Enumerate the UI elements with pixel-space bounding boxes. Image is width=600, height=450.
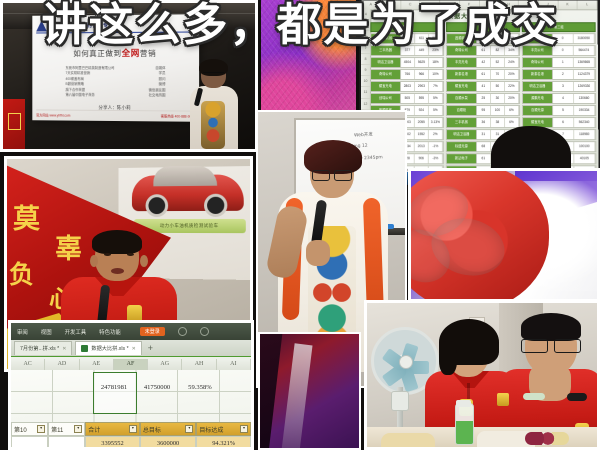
- cell-name: 百顺水泵: [447, 94, 477, 103]
- header-label: 合计: [88, 425, 100, 434]
- row-cell-total[interactable]: 3395552: [85, 436, 140, 447]
- table-row: 三丰机械36386%: [446, 117, 520, 128]
- cell-name: 耀宝光电: [447, 82, 477, 91]
- red-flag: [3, 99, 25, 149]
- car-wheel: [204, 194, 227, 217]
- cell-value: 38: [491, 118, 505, 127]
- cell-value: 25: [477, 94, 491, 103]
- cell-name: 三丰机械: [447, 118, 477, 127]
- whiteboard-note: Web开发: [354, 132, 373, 139]
- cell-value: 41: [477, 82, 491, 91]
- header-col-10[interactable]: 第10 ▾: [11, 422, 48, 436]
- table-row: 耀宝光电415022%: [446, 81, 520, 92]
- spreadsheet-title: 数据大比拼: [447, 11, 482, 20]
- new-tab-button[interactable]: +: [145, 343, 156, 353]
- bullet-right: 社交电商圈: [149, 95, 166, 98]
- table-row: 百顺柜951006%: [446, 105, 520, 116]
- cell-name: 三丰机械: [523, 34, 553, 43]
- cell-value: 50: [491, 82, 505, 91]
- slide-brand-text: 银隆营销你身边的营销专家: [50, 22, 114, 29]
- col-header: E: [440, 0, 460, 9]
- cell-value: 18%: [429, 58, 443, 67]
- wristwatch-icon: [567, 393, 587, 401]
- row-cell[interactable]: [48, 436, 85, 447]
- close-icon[interactable]: ✕: [132, 346, 136, 352]
- cell-value: 7%: [429, 82, 443, 91]
- table-row: 奇特公司76696610%: [370, 69, 444, 80]
- cell-value: 118980: [574, 130, 595, 139]
- red-car-image: [132, 174, 244, 211]
- table-row: 丰亮公司0564474: [522, 45, 596, 56]
- cell-value: 2903: [415, 82, 429, 91]
- cell-value: 17: [477, 34, 491, 43]
- row-header: 10: [361, 76, 370, 87]
- bullet-left: 400覆盖布局: [65, 78, 83, 81]
- cell-value: 5625: [415, 58, 429, 67]
- cell-name: 丰亮公司: [523, 46, 553, 55]
- person-shirt-pattern: [201, 101, 225, 149]
- cell-value: 22%: [505, 82, 519, 91]
- header-achievement[interactable]: 目标达成 ▾: [196, 422, 251, 436]
- cell-value: 2013: [415, 142, 429, 151]
- row-cell-target[interactable]: 3600000: [140, 436, 197, 447]
- column-header-ag[interactable]: AG: [148, 359, 182, 370]
- bullet-left: 旗下合作商盟: [65, 89, 84, 92]
- cell-value: 611: [415, 34, 429, 43]
- cell-name: 奇特公司: [447, 46, 477, 55]
- settings-icon[interactable]: [200, 327, 209, 336]
- table-row: 明洁卫浴器4504562518%: [370, 57, 444, 68]
- cell-value: 611: [401, 34, 415, 43]
- document-tab-1[interactable]: 7月份第...拼.xls * ✕: [14, 341, 72, 355]
- cell-value: 82: [491, 46, 505, 55]
- cell-value: 95: [477, 106, 491, 115]
- row-header: 8: [361, 54, 370, 65]
- cell-value: 2803: [401, 82, 415, 91]
- person-glasses: [203, 72, 224, 78]
- cell-value: 52: [491, 58, 505, 67]
- col-header: H: [499, 0, 519, 9]
- cell-name: 耀宝光电: [371, 82, 401, 91]
- slide-bullet-list: 东莞市阿里巴巴精英制造有限公司 自媒体 7天实现精准营销 学员 400覆盖布局 …: [65, 67, 165, 98]
- cell-value: 10%: [429, 70, 443, 79]
- close-icon[interactable]: ✕: [62, 346, 66, 352]
- cell-value: -1%: [429, 142, 443, 151]
- block-header: 第三组: [522, 22, 596, 32]
- login-status-button[interactable]: 未登录: [140, 327, 165, 337]
- bullet-left: B超营销策略: [65, 83, 83, 86]
- cell-value: 23%: [429, 46, 443, 55]
- woman-hair: [304, 140, 362, 174]
- table-row: 明洁卫浴器31269330: [522, 81, 596, 92]
- cell-value: 34%: [505, 46, 519, 55]
- cell-name: 丰亮光电: [447, 58, 477, 67]
- slide-title: 如何真正做到全网营销: [32, 47, 199, 59]
- row-header: 9: [361, 65, 370, 76]
- cell-value: 564474: [574, 46, 595, 55]
- cell-value: 1369865: [574, 58, 595, 67]
- cell-value: 100: [491, 106, 505, 115]
- cell-value: 4504: [401, 58, 415, 67]
- table-row: 百顺光源5190334: [522, 105, 596, 116]
- row-header: 6: [361, 32, 370, 43]
- slide-bullet-row: 第六届中国电子商务 社交电商圈: [65, 94, 165, 98]
- tile-projector-slide-photo: 银隆营销你身边的营销专家 如何真正做到全网营销 东莞市阿里巴巴精英制造有限公司 …: [0, 0, 258, 152]
- col-header: B: [381, 0, 401, 9]
- row-header: 12: [361, 99, 370, 110]
- speaker-ear: [140, 255, 148, 267]
- filter-dropdown-icon[interactable]: ▾: [74, 425, 82, 433]
- cell-value: 5: [553, 106, 574, 115]
- table-header-row: 第10 ▾ 第11 ▾ 合计 ▾ 总目标 ▾ 目标达成 ▾: [11, 422, 251, 436]
- audience-person: [188, 61, 240, 149]
- cell-name: 新泰名港: [523, 70, 553, 79]
- cell-value-ag[interactable]: 41750000: [136, 384, 178, 391]
- col-header: I: [519, 0, 539, 9]
- cell-value: 50%: [429, 34, 443, 43]
- slide-bullet-row: 7天实现精准营销 学员: [65, 72, 165, 75]
- cell-value-af[interactable]: 24781981: [93, 384, 135, 391]
- table-row: 丰亮光电425224%: [446, 57, 520, 68]
- cell-value: 61: [477, 46, 491, 55]
- table-row: 三丰机械03180050: [522, 33, 596, 44]
- slide-bullet-row: 东莞市阿里巴巴精英制造有限公司 自媒体: [65, 67, 165, 70]
- slide-title-prefix: 如何真正做到: [73, 49, 121, 58]
- table-row: 奇特公司11369865: [522, 57, 596, 68]
- header-col-11[interactable]: 第11 ▾: [48, 422, 85, 436]
- row-header: 5: [361, 20, 370, 31]
- speaker-ear: [90, 255, 98, 267]
- cell-name: 新泰名港: [447, 70, 477, 79]
- cell-value: 20%: [505, 94, 519, 103]
- menu-item-features[interactable]: 特色功能: [99, 328, 121, 336]
- cell-value: 20%: [505, 70, 519, 79]
- triangle-logo-icon: [36, 21, 47, 32]
- header-label: 目标达成: [199, 425, 223, 434]
- tab-label: 数据大比拼.xls *: [91, 345, 128, 352]
- speaker-mouth: [111, 268, 124, 274]
- menu-item-review[interactable]: 审阅: [17, 328, 28, 336]
- car-wheel: [146, 194, 169, 217]
- column-header-af[interactable]: AF: [114, 359, 148, 370]
- col-header: J: [538, 0, 558, 9]
- cell-value: 924: [415, 106, 429, 115]
- speaker-eye: [104, 253, 111, 256]
- cell-value: 23: [491, 34, 505, 43]
- table-row: 三丰机械61161150%: [370, 33, 444, 44]
- column-header-ai[interactable]: AI: [217, 359, 251, 370]
- rose-bloom: [411, 171, 549, 299]
- cell-name: 明洁卫浴器: [371, 58, 401, 67]
- bullet-right: 微信朋友圈: [149, 89, 166, 92]
- table-row: 创瑞公司5055955%: [370, 93, 444, 104]
- cell-value: 31: [477, 130, 491, 139]
- table-row: 新泰名港617020%: [446, 69, 520, 80]
- table-row: 新泰名港21124379: [522, 69, 596, 80]
- cell-value: 68: [477, 142, 491, 151]
- menu-item-developer[interactable]: 开发工具: [65, 328, 87, 336]
- slide-bullet-row: B超营销策略 微博: [65, 83, 165, 87]
- cell-value: 70: [491, 70, 505, 79]
- man-hair: [521, 313, 581, 341]
- column-header-ac[interactable]: AC: [11, 359, 45, 370]
- cell-value: 5%: [429, 94, 443, 103]
- block-header: 第二组: [446, 22, 520, 32]
- cell-name: 奇特公司: [523, 58, 553, 67]
- cell-value: 3180050: [574, 34, 595, 43]
- spreadsheet-column-headers: A B C D E F G H I J K L: [361, 0, 597, 10]
- cell-value: 0: [553, 34, 574, 43]
- cell-value: 24%: [505, 58, 519, 67]
- col-header: L: [578, 0, 598, 9]
- speaker-hair: [92, 230, 142, 254]
- cell-value: 3.13%: [429, 118, 443, 127]
- header-label: 第11: [51, 425, 63, 434]
- header-label: 第10: [14, 425, 27, 434]
- slide-footer: 官方网站 www.yhfhl.com 客服热线 400-888-0000: [36, 109, 195, 119]
- bullet-left: 第六届中国电子商务: [65, 94, 94, 97]
- cell-value: 0: [553, 46, 574, 55]
- menu-item-view[interactable]: 视图: [41, 328, 52, 336]
- cell-name: 奇特公司: [371, 70, 401, 79]
- filter-dropdown-icon[interactable]: ▾: [129, 425, 137, 433]
- col-header: A: [361, 0, 381, 9]
- header-target[interactable]: 总目标 ▾: [140, 422, 197, 436]
- cell-value: 3: [553, 82, 574, 91]
- cell-value: 595: [415, 94, 429, 103]
- projection-screen: 银隆营销你身边的营销专家 如何真正做到全网营销 东莞市阿里巴巴精英制造有限公司 …: [32, 14, 199, 122]
- cell-value: 1124379: [574, 70, 595, 79]
- cell-value: 906: [415, 154, 429, 163]
- tile-wps-spreadsheet-photo: 审阅 视图 开发工具 特色功能 未登录 7月份第...拼.xls * ✕ 数据大…: [8, 320, 254, 450]
- tile-red-rose-photo: [408, 168, 600, 302]
- cell-value: 766: [401, 70, 415, 79]
- table-row: 3395552 3600000 94.321%: [11, 436, 251, 447]
- slide-title-suffix: 营销: [140, 49, 156, 58]
- water-bottle-icon: [455, 403, 474, 445]
- cell-value: 4: [553, 94, 574, 103]
- table-row: 耀宝光电280329037%: [370, 81, 444, 92]
- cell-value: 61: [477, 154, 491, 163]
- table-row: 三丰热器37744923%: [370, 45, 444, 56]
- wps-document-tabs: 7月份第...拼.xls * ✕ 数据大比拼.xls * ✕ +: [11, 340, 251, 357]
- block-header: 第一组: [370, 22, 444, 32]
- cell-name: 明洁卫浴器: [523, 82, 553, 91]
- banner-char: 莫: [13, 197, 40, 236]
- speaker-eye: [127, 253, 134, 256]
- glasses-icon: [312, 170, 352, 179]
- bullet-right: 顾问: [159, 78, 166, 81]
- header-total[interactable]: 合计 ▾: [85, 422, 140, 436]
- cell-name: 标盛光源: [447, 142, 477, 151]
- cell-name: 新达电子: [447, 154, 477, 163]
- bottle-cap: [456, 400, 471, 407]
- cell-value: 61: [477, 70, 491, 79]
- col-header: K: [558, 0, 578, 9]
- banner-char: 负: [9, 255, 34, 291]
- cell-value: 5%: [429, 106, 443, 115]
- cell-name: 三丰热器: [371, 46, 401, 55]
- bullet-right: 学员: [159, 73, 166, 76]
- cell-name: 创瑞公司: [371, 94, 401, 103]
- tab-label: 7月份第...拼.xls *: [20, 345, 59, 352]
- bullet-right: 自媒体: [155, 67, 165, 70]
- bullet-right: 微博: [159, 84, 166, 87]
- cell-value: 1269330: [574, 82, 595, 91]
- filter-dropdown-icon[interactable]: ▾: [37, 425, 45, 433]
- fan-control-panel: [391, 391, 409, 411]
- glasses-icon: [521, 339, 581, 351]
- cell-value: 1: [553, 58, 574, 67]
- col-header: D: [420, 0, 440, 9]
- cell-value: 377: [401, 46, 415, 55]
- cell-value: 40105: [574, 154, 595, 163]
- selected-cell-outline[interactable]: [93, 372, 137, 414]
- food-plate-icon: [381, 433, 435, 447]
- slide-header: 银隆营销你身边的营销专家: [36, 18, 195, 33]
- col-header: C: [401, 0, 421, 9]
- column-header-ah[interactable]: AH: [182, 359, 216, 370]
- cell-value: 449: [415, 46, 429, 55]
- cell-name: 百顺柜: [447, 106, 477, 115]
- document-tab-2[interactable]: 数据大比拼.xls * ✕: [75, 341, 141, 355]
- slide-title-highlight: 全网: [122, 48, 140, 58]
- cell-name: 三丰机械: [371, 34, 401, 43]
- row-header: 11: [361, 87, 370, 98]
- fan-hub: [399, 355, 413, 369]
- cell-value: 6: [553, 118, 574, 127]
- cell-value: 130660: [574, 94, 595, 103]
- cell-value: 505: [401, 94, 415, 103]
- cell-value: 966: [415, 70, 429, 79]
- cell-value: 100100: [574, 142, 595, 151]
- table-row: 奇特公司618234%: [446, 45, 520, 56]
- col-header: F: [460, 0, 480, 9]
- tile-two-people-table-photo: [364, 300, 600, 450]
- help-icon[interactable]: [178, 327, 187, 336]
- column-header-ad[interactable]: AD: [45, 359, 79, 370]
- col-header: G: [480, 0, 500, 9]
- jade-bracelet-icon: [523, 393, 545, 400]
- slide-bullet-row: 400覆盖布局 顾问: [65, 78, 165, 82]
- bullet-left: 东莞市阿里巴巴精英制造有限公司: [65, 67, 114, 70]
- filter-dropdown-icon[interactable]: ▾: [185, 425, 193, 433]
- table-row: 昌顺机械172335%: [446, 33, 520, 44]
- row-header: 7: [361, 43, 370, 54]
- cell-value: 42: [477, 58, 491, 67]
- shirt-badge-icon: [497, 393, 509, 406]
- column-header-ae[interactable]: AE: [80, 359, 114, 370]
- bullet-left: 7天实现精准营销: [65, 72, 90, 75]
- cell-value: 35%: [505, 34, 519, 43]
- cell-name: 明洁卫浴器: [447, 130, 477, 139]
- cell-value: 36: [477, 118, 491, 127]
- cell-value: 1552: [415, 130, 429, 139]
- woman-hand: [306, 240, 330, 266]
- slide-footer-left: 官方网站 www.yhfhl.com: [36, 112, 70, 117]
- cell-name: 百顺光源: [523, 106, 553, 115]
- cell-name: 昌顺机械: [447, 34, 477, 43]
- woman-hair-side: [439, 341, 457, 375]
- cell-value: 6%: [505, 118, 519, 127]
- cell-value-ah[interactable]: 59.358%: [179, 384, 221, 391]
- wps-menu-bar: 审阅 视图 开发工具 特色功能 未登录: [11, 323, 251, 340]
- row-header: 4: [361, 9, 370, 20]
- row-cell[interactable]: [11, 436, 48, 447]
- table-row: 源鹏光电4130660: [522, 93, 596, 104]
- fruit-plate-icon: [525, 432, 569, 445]
- filter-dropdown-icon[interactable]: ▾: [240, 425, 248, 433]
- cell-value: 562340: [574, 118, 595, 127]
- photo-collage: 银隆营销你身边的营销专家 如何真正做到全网营销 东莞市阿里巴巴精英制造有限公司 …: [0, 0, 600, 450]
- cell-value: 2%: [429, 130, 443, 139]
- cell-value: -3%: [429, 154, 443, 163]
- cell-value: 190334: [574, 106, 595, 115]
- cell-value: 2055: [415, 118, 429, 127]
- row-cell-achievement[interactable]: 94.321%: [196, 436, 251, 447]
- abstract-light-streak: [281, 343, 312, 450]
- cell-value: 2: [553, 70, 574, 79]
- tile-dark-abstract-photo: [258, 332, 361, 450]
- header-label: 总目标: [143, 425, 161, 434]
- cell-value: 30: [491, 94, 505, 103]
- cell-name: 源鹏光电: [523, 94, 553, 103]
- table-row: 百顺水泵253020%: [446, 93, 520, 104]
- xls-file-icon: [81, 345, 88, 352]
- cell-value: 6%: [505, 106, 519, 115]
